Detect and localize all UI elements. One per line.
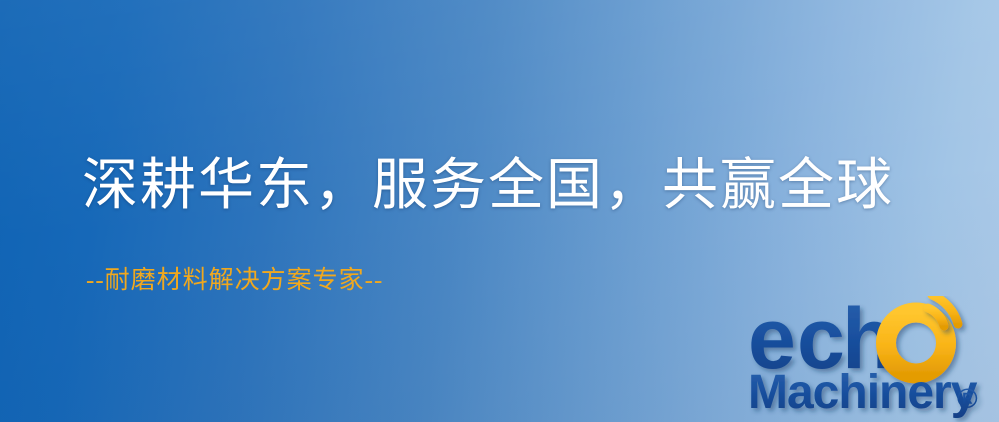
banner-subtitle: --耐磨材料解决方案专家-- — [86, 266, 383, 296]
echo-machinery-logo[interactable]: e c h Machinery ® — [748, 296, 999, 422]
logo-registered-mark: ® — [957, 383, 978, 414]
logo-machinery-text: Machinery — [748, 366, 978, 419]
logo-machinery-wordmark: Machinery ® — [748, 366, 978, 419]
promo-banner: 深耕华东，服务全国，共赢全球 --耐磨材料解决方案专家-- — [0, 0, 999, 422]
banner-headline: 深耕华东，服务全国，共赢全球 — [82, 154, 894, 218]
logo-letter-o-ring-icon — [886, 313, 946, 374]
